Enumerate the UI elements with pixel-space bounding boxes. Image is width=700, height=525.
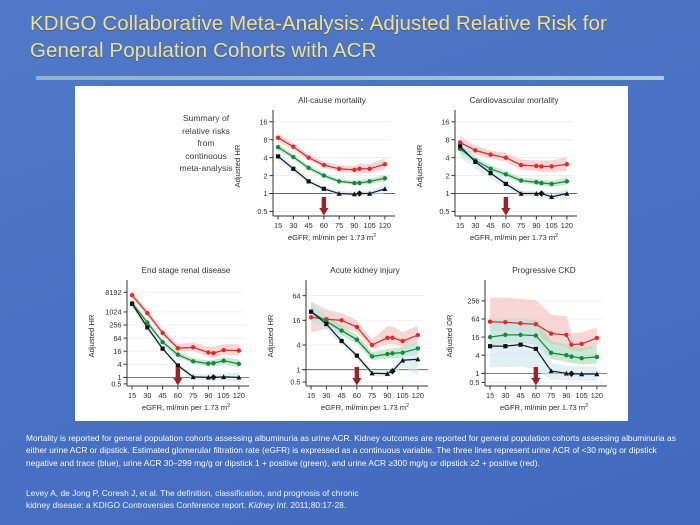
data-point-marker: [400, 339, 404, 343]
data-point-marker: [385, 336, 389, 340]
data-point-marker: [565, 162, 569, 166]
title-divider: [36, 76, 664, 80]
data-point-marker: [160, 340, 164, 344]
summary-line-2: from: [147, 137, 265, 150]
summary-note: Summary of relative risks from continuou…: [147, 112, 265, 175]
y-tick-label: 256: [109, 321, 121, 330]
x-tick-label: 15: [274, 221, 282, 230]
y-tick-label: 16: [113, 347, 121, 356]
citation-line-1: Levey A, de Jong P, Coresh J, et al. The…: [26, 487, 680, 499]
x-tick-label: 30: [322, 391, 330, 400]
data-point-marker: [504, 155, 508, 159]
data-point-marker: [488, 152, 492, 156]
y-tick-label: 1024: [105, 308, 121, 317]
data-point-marker: [488, 320, 492, 324]
data-point-marker: [309, 315, 313, 319]
y-tick-label: 0.5: [439, 207, 449, 216]
data-point-marker: [352, 181, 356, 185]
data-point-marker: [416, 346, 420, 350]
data-point-marker: [191, 359, 195, 363]
citation: Levey A, de Jong P, Coresh J, et al. The…: [26, 487, 680, 512]
data-point-marker: [383, 162, 387, 166]
y-tick-label: 0.5: [257, 207, 267, 216]
data-point-marker: [357, 167, 361, 171]
summary-line-4: meta-analysis: [147, 162, 265, 175]
x-tick-label: 30: [143, 391, 151, 400]
x-tick-label: 15: [486, 391, 494, 400]
data-point-marker: [367, 179, 371, 183]
egfr-60-arrow: [319, 197, 328, 216]
chart-title: Cardiovascular mortality: [470, 95, 560, 105]
x-tick-label: 90: [204, 391, 212, 400]
x-axis-label: eGFR, ml/min per 1.73 m2: [288, 233, 376, 242]
data-point-marker: [534, 180, 538, 184]
data-point-marker: [370, 343, 374, 347]
data-point-marker: [340, 339, 344, 343]
data-point-marker: [595, 355, 599, 359]
data-point-marker: [503, 333, 507, 337]
data-point-marker: [504, 172, 508, 176]
x-tick-label: 105: [576, 391, 588, 400]
y-tick-label: 16: [292, 316, 300, 325]
data-point-marker: [161, 347, 165, 351]
data-point-marker: [276, 145, 280, 149]
x-tick-label: 30: [501, 391, 509, 400]
x-tick-label: 120: [561, 221, 573, 230]
y-tick-label: 8192: [105, 288, 121, 297]
x-tick-label: 60: [353, 391, 361, 400]
x-tick-label: 105: [218, 391, 230, 400]
data-point-marker: [337, 167, 341, 171]
data-point-marker: [322, 187, 326, 191]
x-tick-label: 75: [189, 391, 197, 400]
x-tick-label: 75: [517, 221, 525, 230]
data-point-marker: [390, 336, 394, 340]
y-tick-label: 64: [113, 334, 121, 343]
x-axis-label: eGFR, ml/min per 1.73 m2: [321, 403, 409, 412]
data-point-marker: [291, 155, 295, 159]
data-point-marker: [518, 333, 522, 337]
egfr-60-arrow: [501, 197, 510, 216]
y-tick-label: 0.5: [290, 378, 300, 387]
summary-line-3: continuous: [147, 150, 265, 163]
data-point-marker: [564, 353, 568, 357]
figure-caption: Mortality is reported for general popula…: [26, 432, 680, 470]
data-point-marker: [355, 337, 359, 341]
x-tick-label: 120: [412, 391, 424, 400]
y-axis-label: Adjusted HR: [87, 314, 96, 357]
chart-progressive-ckd: Progressive CKD0.5141664256Adjusted OR15…: [445, 265, 607, 412]
y-tick-label: 0.5: [469, 378, 479, 387]
data-point-marker: [307, 179, 311, 183]
citation-line-2-pre: kidney disease: a KDIGO Controversies Co…: [26, 500, 249, 510]
data-point-marker: [337, 179, 341, 183]
x-tick-label: 75: [335, 221, 343, 230]
summary-line-0: Summary of: [147, 112, 265, 125]
data-point-marker: [211, 351, 215, 355]
y-tick-label: 1: [117, 373, 121, 382]
y-tick-label: 4: [445, 153, 449, 162]
page-title: KDIGO Collaborative Meta-Analysis: Adjus…: [30, 10, 670, 64]
y-tick-label: 2: [445, 171, 449, 180]
x-tick-label: 45: [305, 221, 313, 230]
x-tick-label: 75: [547, 391, 555, 400]
data-point-marker: [534, 164, 538, 168]
data-point-marker: [355, 354, 359, 358]
x-tick-label: 90: [383, 391, 391, 400]
citation-line-2: kidney disease: a KDIGO Controversies Co…: [26, 499, 680, 511]
y-tick-label: 1: [475, 369, 479, 378]
chart-cardiovascular-mortality: Cardiovascular mortality0.5124816Adjuste…: [415, 95, 577, 242]
y-tick-label: 1: [445, 189, 449, 198]
data-point-marker: [221, 348, 225, 352]
data-point-marker: [130, 302, 134, 306]
data-point-marker: [352, 168, 356, 172]
y-tick-label: 256: [467, 297, 479, 306]
data-point-marker: [309, 310, 313, 314]
data-point-marker: [579, 356, 583, 360]
y-axis-label: Adjusted HR: [266, 314, 275, 357]
x-tick-label: 45: [159, 391, 167, 400]
data-point-marker: [237, 362, 241, 366]
data-point-marker: [534, 322, 538, 326]
data-point-marker: [237, 348, 241, 352]
chart-title: Acute kidney injury: [330, 265, 400, 275]
x-tick-label: 105: [364, 221, 376, 230]
data-point-marker: [565, 179, 569, 183]
data-point-marker: [519, 178, 523, 182]
data-point-marker: [458, 140, 462, 144]
x-tick-label: 120: [379, 221, 391, 230]
data-point-marker: [503, 320, 507, 324]
data-point-marker: [291, 145, 295, 149]
data-point-marker: [503, 344, 507, 348]
data-point-marker: [569, 342, 573, 346]
data-point-marker: [383, 176, 387, 180]
series-line: [278, 156, 385, 194]
citation-line-2-post: . 2011;80:17-28.: [286, 500, 346, 510]
data-point-marker: [473, 148, 477, 152]
data-point-marker: [370, 354, 374, 358]
y-axis-label: Adjusted OR: [445, 314, 454, 358]
y-tick-label: 64: [471, 315, 479, 324]
citation-journal: Kidney Int: [249, 500, 286, 510]
data-point-marker: [539, 164, 543, 168]
x-tick-label: 105: [397, 391, 409, 400]
x-tick-label: 30: [471, 221, 479, 230]
x-tick-label: 75: [368, 391, 376, 400]
data-point-marker: [564, 333, 568, 337]
data-point-marker: [355, 325, 359, 329]
data-point-marker: [488, 344, 492, 348]
data-point-marker: [145, 311, 149, 315]
data-point-marker: [306, 166, 310, 170]
y-tick-label: 8: [445, 135, 449, 144]
data-point-marker: [176, 353, 180, 357]
data-point-marker: [339, 318, 343, 322]
x-tick-label: 45: [487, 221, 495, 230]
data-point-marker: [390, 351, 394, 355]
x-axis-label: eGFR, ml/min per 1.73 m2: [500, 403, 588, 412]
data-point-marker: [191, 345, 195, 349]
data-point-marker: [357, 181, 361, 185]
data-point-marker: [385, 352, 389, 356]
x-axis-label: eGFR, ml/min per 1.73 m2: [142, 403, 230, 412]
data-point-marker: [458, 144, 462, 148]
chart-title: All-cause mortality: [298, 95, 367, 105]
data-point-marker: [176, 346, 180, 350]
x-tick-label: 90: [562, 391, 570, 400]
data-point-marker: [489, 171, 493, 175]
y-tick-label: 64: [292, 291, 300, 300]
data-point-marker: [534, 347, 538, 351]
data-point-marker: [206, 361, 210, 365]
data-point-marker: [322, 163, 326, 167]
data-point-marker: [130, 293, 134, 297]
data-point-marker: [339, 328, 343, 332]
data-point-marker: [519, 343, 523, 347]
chart-end-stage-renal-disease: End stage renal disease0.514166425610248…: [87, 265, 249, 412]
y-tick-label: 4: [117, 360, 121, 369]
data-point-marker: [549, 351, 553, 355]
slide-root: KDIGO Collaborative Meta-Analysis: Adjus…: [0, 0, 700, 525]
data-point-marker: [206, 350, 210, 354]
x-tick-label: 15: [307, 391, 315, 400]
data-point-marker: [488, 335, 492, 339]
x-tick-label: 105: [546, 221, 558, 230]
x-tick-label: 60: [532, 391, 540, 400]
y-tick-label: 1: [263, 189, 267, 198]
y-axis-label: Adjusted HR: [415, 144, 424, 187]
data-point-marker: [211, 361, 215, 365]
x-tick-label: 45: [338, 391, 346, 400]
figure-panel: Summary of relative risks from continuou…: [75, 86, 628, 421]
data-point-marker: [569, 354, 573, 358]
data-point-marker: [160, 331, 164, 335]
chart-acute-kidney-injury: Acute kidney injury0.5141664Adjusted HR1…: [266, 265, 428, 412]
data-point-marker: [488, 167, 492, 171]
x-tick-label: 90: [350, 221, 358, 230]
data-point-marker: [549, 331, 553, 335]
data-point-marker: [519, 163, 523, 167]
data-point-marker: [579, 342, 583, 346]
summary-line-1: relative risks: [147, 125, 265, 138]
data-point-marker: [291, 167, 295, 171]
data-point-marker: [539, 181, 543, 185]
data-point-marker: [221, 359, 225, 363]
data-point-marker: [276, 154, 280, 158]
data-point-marker: [473, 160, 477, 164]
data-point-marker: [504, 182, 508, 186]
x-tick-label: 15: [128, 391, 136, 400]
data-point-marker: [324, 322, 328, 326]
data-point-marker: [416, 333, 420, 337]
data-point-marker: [322, 173, 326, 177]
data-point-marker: [549, 182, 553, 186]
y-tick-label: 16: [441, 117, 449, 126]
y-tick-label: 4: [296, 341, 300, 350]
x-tick-label: 30: [289, 221, 297, 230]
x-axis-label: eGFR, ml/min per 1.73 m2: [470, 233, 558, 242]
x-tick-label: 60: [502, 221, 510, 230]
data-point-marker: [367, 167, 371, 171]
data-point-marker: [276, 136, 280, 140]
data-point-marker: [518, 321, 522, 325]
x-tick-label: 15: [456, 221, 464, 230]
data-point-marker: [145, 325, 149, 329]
y-tick-label: 4: [475, 351, 479, 360]
caption-paragraph: Mortality is reported for general popula…: [26, 432, 680, 469]
x-tick-label: 45: [517, 391, 525, 400]
data-point-marker: [400, 350, 404, 354]
data-point-marker: [549, 164, 553, 168]
chart-title: Progressive CKD: [512, 265, 576, 275]
x-tick-label: 60: [174, 391, 182, 400]
chart-title: End stage renal disease: [141, 265, 230, 275]
x-tick-label: 90: [532, 221, 540, 230]
y-tick-label: 16: [471, 333, 479, 342]
data-point-marker: [595, 336, 599, 340]
data-point-marker: [534, 333, 538, 337]
x-tick-label: 60: [320, 221, 328, 230]
data-point-marker: [306, 155, 310, 159]
y-tick-label: 1: [296, 365, 300, 374]
x-tick-label: 120: [591, 391, 603, 400]
x-tick-label: 120: [233, 391, 245, 400]
